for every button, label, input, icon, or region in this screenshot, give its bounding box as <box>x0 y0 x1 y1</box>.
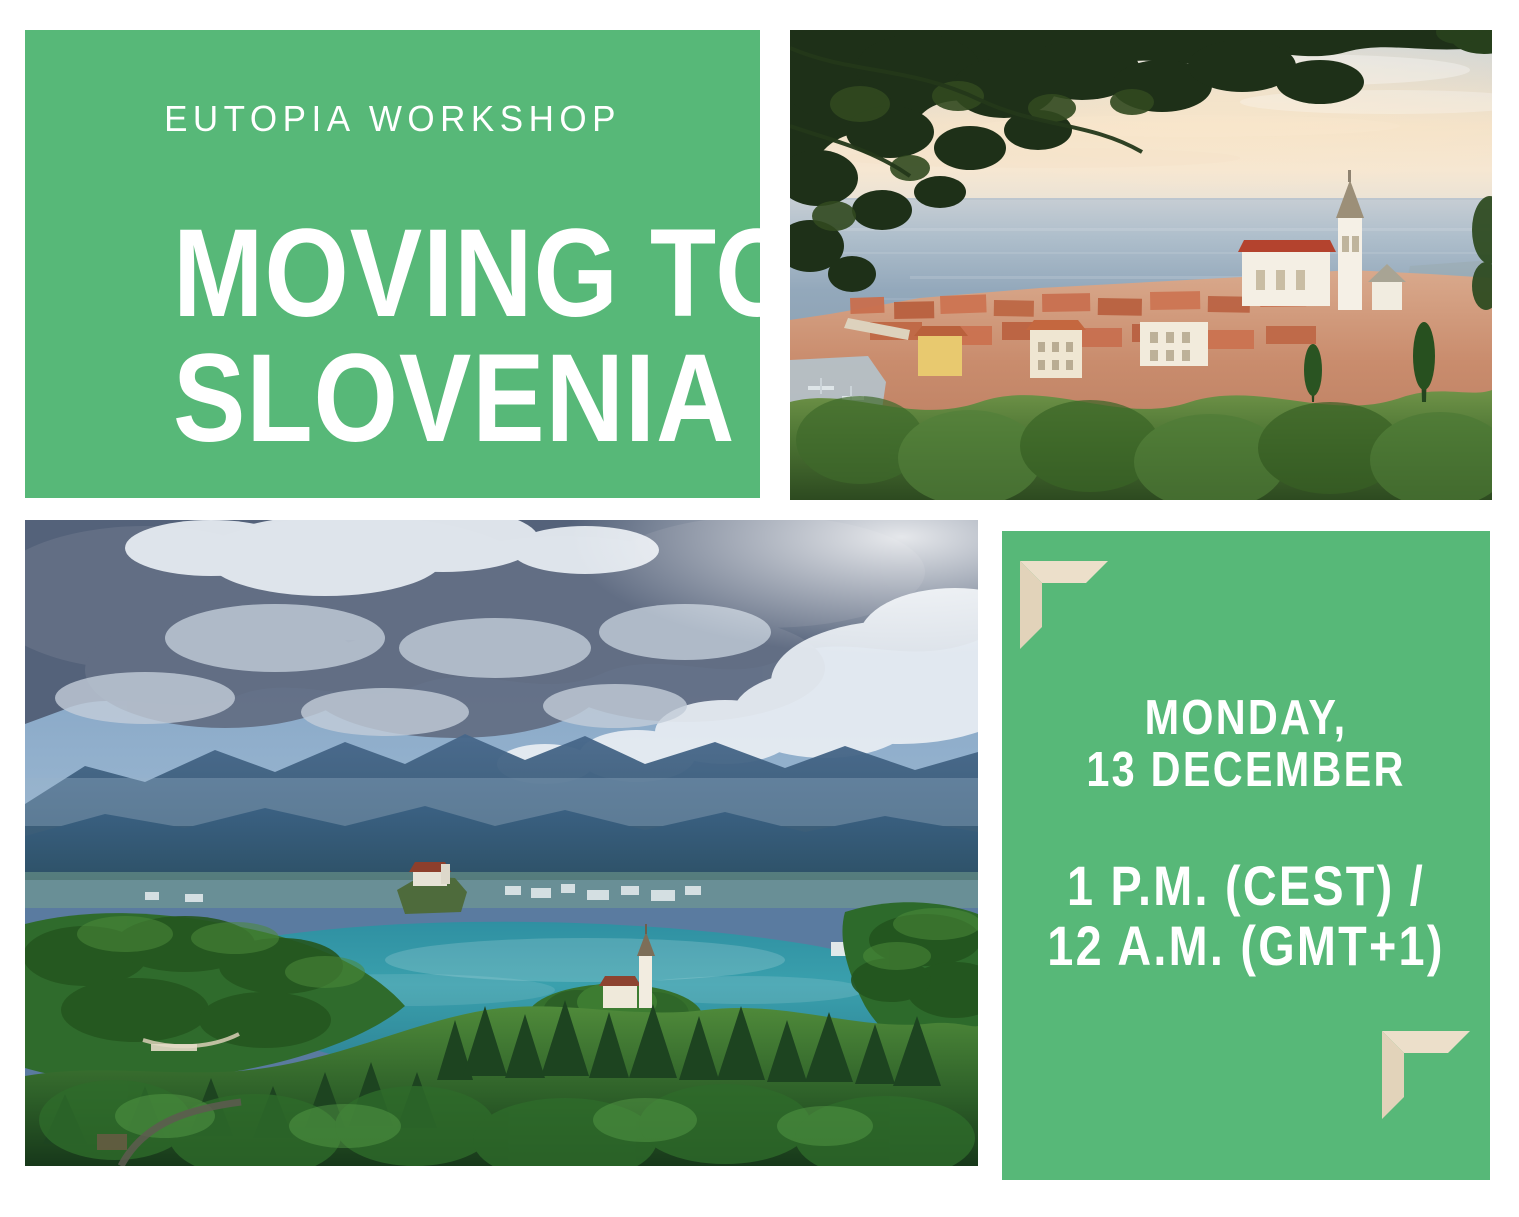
piran-coastal-town-photo <box>790 30 1492 500</box>
lake-bled-photo-graphic <box>25 520 978 1166</box>
bottom-right-bracket-icon <box>1382 1031 1470 1119</box>
piran-photo-graphic <box>790 30 1492 500</box>
corner-bracket-shape <box>1020 561 1108 649</box>
lake-bled-photo <box>25 520 978 1166</box>
date-panel: MONDAY, 13 DECEMBER 1 P.M. (CEST) / 12 A… <box>1002 531 1490 1180</box>
title-line-1: MOVING TO <box>173 208 688 341</box>
title-panel: EUTOPIA WORKSHOP MOVING TO SLOVENIA <box>25 30 760 498</box>
title-line-2: SLOVENIA <box>173 333 688 466</box>
eyebrow-label: EUTOPIA WORKSHOP <box>25 102 760 138</box>
date-line-2: 13 DECEMBER <box>1026 741 1465 797</box>
poster-canvas: EUTOPIA WORKSHOP MOVING TO SLOVENIA <box>0 0 1519 1217</box>
top-left-bracket-icon <box>1020 561 1108 649</box>
time-line-1: 1 P.M. (CEST) / <box>1026 855 1465 919</box>
date-time-block: MONDAY, 13 DECEMBER 1 P.M. (CEST) / 12 A… <box>1002 691 1490 977</box>
corner-bracket-shape <box>1382 1031 1470 1119</box>
date-time-spacer <box>1002 795 1490 857</box>
date-line-1: MONDAY, <box>1026 689 1465 745</box>
time-line-2: 12 A.M. (GMT+1) <box>1026 915 1465 979</box>
poster-title: MOVING TO SLOVENIA <box>173 208 733 458</box>
